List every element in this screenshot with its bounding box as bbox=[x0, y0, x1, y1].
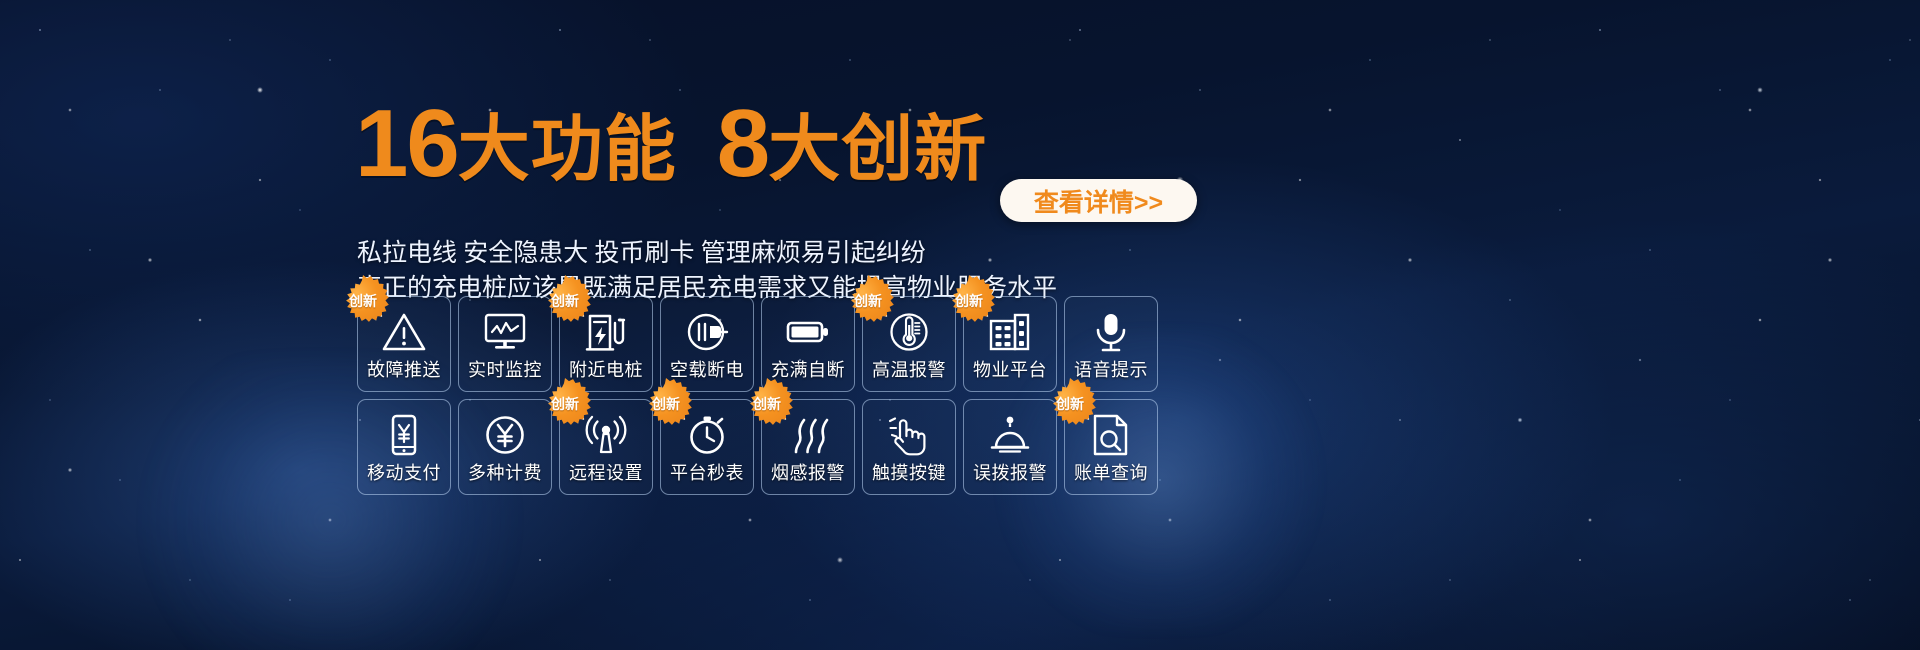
feature-label: 附近电桩 bbox=[569, 361, 643, 379]
feature-grid: 创新 故障推送 实时监控 创新 附近电桩 bbox=[357, 296, 1557, 502]
feature-label: 烟感报警 bbox=[771, 464, 845, 482]
view-details-label: 查看详情>> bbox=[1034, 183, 1163, 219]
innovation-badge-label: 创新 bbox=[551, 394, 579, 414]
feature-label: 远程设置 bbox=[569, 464, 643, 482]
feature-label: 多种计费 bbox=[468, 464, 542, 482]
feature-label: 物业平台 bbox=[973, 361, 1047, 379]
feature-full-autostop[interactable]: 充满自断 bbox=[761, 296, 855, 392]
bill-search-icon bbox=[1088, 406, 1134, 464]
feature-fault-push[interactable]: 创新 故障推送 bbox=[357, 296, 451, 392]
feature-touch-button[interactable]: 触摸按键 bbox=[862, 399, 956, 495]
feature-misdial-alarm[interactable]: 误拨报警 bbox=[963, 399, 1057, 495]
feature-idle-cutoff[interactable]: 空载断电 bbox=[660, 296, 754, 392]
feature-label: 空载断电 bbox=[670, 361, 744, 379]
innovation-badge-label: 创新 bbox=[854, 291, 882, 311]
feature-smoke-alarm[interactable]: 创新 烟感报警 bbox=[761, 399, 855, 495]
wireless-signal-icon bbox=[583, 406, 629, 464]
feature-multi-billing[interactable]: 多种计费 bbox=[458, 399, 552, 495]
touch-hand-icon bbox=[886, 406, 932, 464]
subtitle-line-1: 私拉电线 安全隐患大 投币刷卡 管理麻烦易引起纠纷 bbox=[357, 236, 1057, 271]
feature-bill-query[interactable]: 创新 账单查询 bbox=[1064, 399, 1158, 495]
monitor-waveform-icon bbox=[482, 303, 528, 361]
charging-station-icon bbox=[583, 303, 629, 361]
feature-nearby-station[interactable]: 创新 附近电桩 bbox=[559, 296, 653, 392]
feature-label: 高温报警 bbox=[872, 361, 946, 379]
view-details-button[interactable]: 查看详情>> bbox=[1000, 179, 1197, 222]
plug-disconnect-icon bbox=[684, 303, 730, 361]
feature-label: 平台秒表 bbox=[670, 464, 744, 482]
innovation-badge-label: 创新 bbox=[1056, 394, 1084, 414]
feature-label: 误拨报警 bbox=[973, 464, 1047, 482]
microphone-icon bbox=[1088, 303, 1134, 361]
mobile-payment-icon bbox=[381, 406, 427, 464]
feature-realtime-monitor[interactable]: 实时监控 bbox=[458, 296, 552, 392]
feature-voice-prompt[interactable]: 语音提示 bbox=[1064, 296, 1158, 392]
thermometer-icon bbox=[886, 303, 932, 361]
headline-number-16: 16 bbox=[355, 90, 458, 197]
feature-mobile-payment[interactable]: 移动支付 bbox=[357, 399, 451, 495]
innovation-badge-label: 创新 bbox=[753, 394, 781, 414]
promo-banner: 16大功能8大创新 私拉电线 安全隐患大 投币刷卡 管理麻烦易引起纠纷 真正的充… bbox=[0, 0, 1920, 650]
stopwatch-icon bbox=[684, 406, 730, 464]
feature-label: 触摸按键 bbox=[872, 464, 946, 482]
headline: 16大功能8大创新 bbox=[355, 96, 987, 192]
headline-number-8: 8 bbox=[717, 90, 768, 197]
innovation-badge-label: 创新 bbox=[349, 291, 377, 311]
feature-row-1: 创新 故障推送 实时监控 创新 附近电桩 bbox=[357, 296, 1557, 392]
feature-high-temp-alarm[interactable]: 创新 高温报警 bbox=[862, 296, 956, 392]
feature-label: 充满自断 bbox=[771, 361, 845, 379]
warning-triangle-icon bbox=[381, 303, 427, 361]
feature-label: 账单查询 bbox=[1074, 464, 1148, 482]
feature-label: 语音提示 bbox=[1074, 361, 1148, 379]
yuan-coin-icon bbox=[482, 406, 528, 464]
feature-property-platform[interactable]: 创新 物业平台 bbox=[963, 296, 1057, 392]
battery-full-icon bbox=[785, 303, 831, 361]
building-icon bbox=[987, 303, 1033, 361]
feature-platform-timer[interactable]: 创新 平台秒表 bbox=[660, 399, 754, 495]
smoke-detector-icon bbox=[785, 406, 831, 464]
feature-label: 移动支付 bbox=[367, 464, 441, 482]
innovation-badge-label: 创新 bbox=[551, 291, 579, 311]
feature-remote-setting[interactable]: 创新 远程设置 bbox=[559, 399, 653, 495]
alarm-bell-icon bbox=[987, 406, 1033, 464]
feature-label: 实时监控 bbox=[468, 361, 542, 379]
headline-word-functions: 大功能 bbox=[458, 110, 677, 190]
feature-label: 故障推送 bbox=[367, 361, 441, 379]
innovation-badge-label: 创新 bbox=[652, 394, 680, 414]
headline-word-innovations: 大创新 bbox=[768, 110, 987, 190]
innovation-badge-label: 创新 bbox=[955, 291, 983, 311]
feature-row-2: 移动支付 多种计费 创新 远程设置 创新 bbox=[357, 399, 1557, 495]
